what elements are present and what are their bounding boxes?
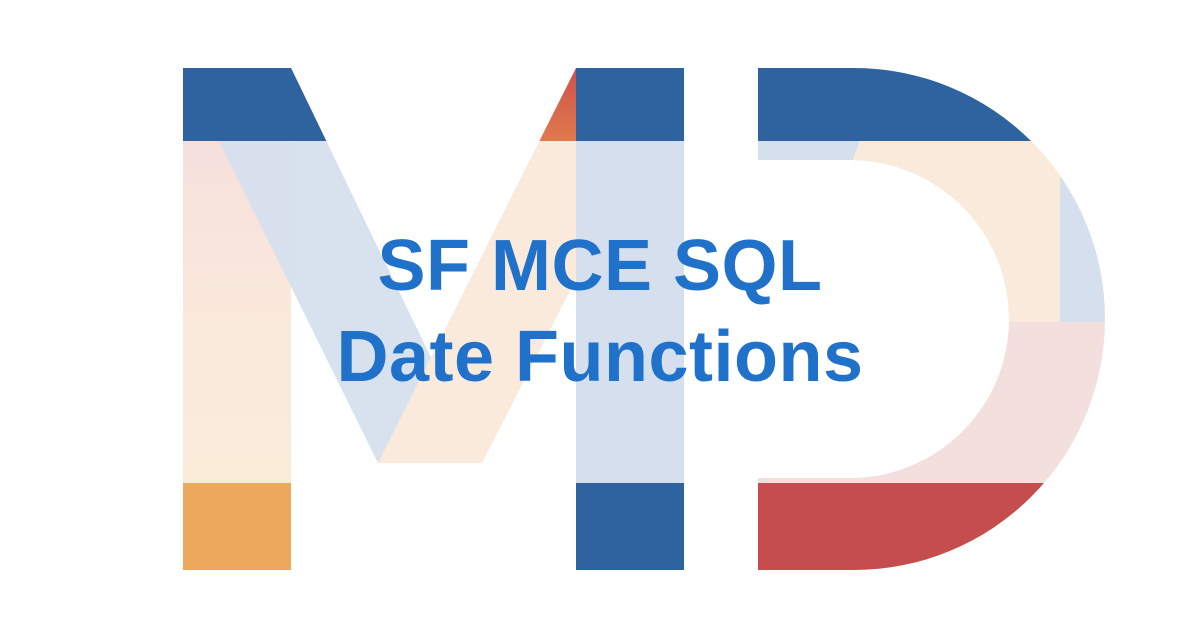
md-logo [0, 0, 1200, 627]
m-right-stem-band-mid [576, 141, 684, 483]
m-diag-down-band-top [183, 68, 1200, 141]
logo-m-right-stem [576, 68, 684, 570]
d-band-lower-mid [700, 322, 1120, 483]
logo-d [700, 68, 1120, 570]
m-diag-down-top-blue [291, 68, 1191, 141]
d-overlap-wedge [790, 141, 1060, 322]
d-band-top [700, 68, 1120, 141]
m-right-stem-band-bottom [576, 483, 684, 570]
m-left-stem-top-overlay [183, 68, 291, 141]
m-right-stem-band-top [576, 68, 684, 141]
page-canvas: SF MCE SQL Date Functions [0, 0, 1200, 627]
d-band-bottom [700, 483, 1120, 570]
m-left-stem-band-bottom [183, 483, 291, 570]
